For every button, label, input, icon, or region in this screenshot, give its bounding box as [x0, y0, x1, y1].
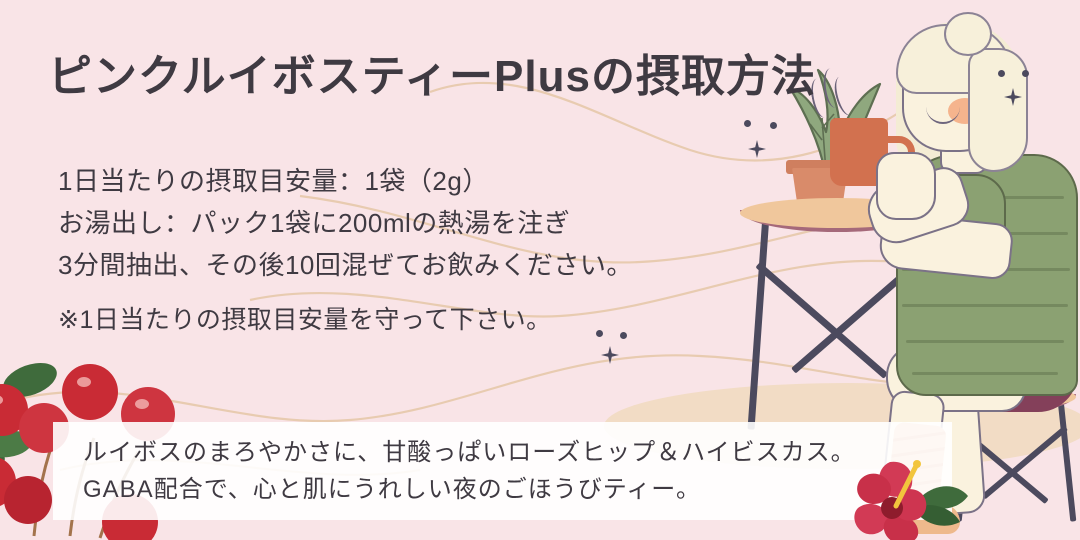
instructions-block: 1日当たりの摂取目安量：1袋（2g） お湯出し：パック1袋に200mlの熱湯を注… — [58, 160, 718, 336]
table-crossbar — [755, 262, 888, 379]
page-title: ピンクルイボスティーPlusの摂取方法 — [48, 40, 816, 104]
sparkle-dot-icon — [770, 122, 777, 129]
instruction-line: 1日当たりの摂取目安量：1袋（2g） — [58, 160, 718, 202]
sparkle-star-icon — [601, 346, 619, 364]
hibiscus-flower-decoration — [848, 452, 970, 540]
instruction-note: ※1日当たりの摂取目安量を守って下さい。 — [58, 300, 718, 336]
hair-side — [968, 48, 1028, 172]
banner-line: ルイボスのまろやかさに、甘酸っぱいローズヒップ＆ハイビスカス。 — [83, 434, 952, 471]
sparkle-dot-icon — [744, 120, 751, 127]
stool-leg — [1058, 404, 1076, 522]
poster-canvas: ピンクルイボスティーPlusの摂取方法 1日当たりの摂取目安量：1袋（2g） お… — [0, 0, 1080, 540]
hair-bun — [944, 12, 992, 56]
bottom-banner: ルイボスのまろやかさに、甘酸っぱいローズヒップ＆ハイビスカス。 GABA配合で、… — [53, 422, 952, 520]
sparkle-dot-icon — [1022, 70, 1029, 77]
table-leg — [747, 222, 768, 430]
hand — [876, 152, 936, 220]
instruction-line: お湯出し：パック1袋に200mlの熱湯を注ぎ — [58, 202, 718, 244]
sparkle-dot-icon — [998, 70, 1005, 77]
banner-line: GABA配合で、心と肌にうれしい夜のごほうびティー。 — [83, 471, 952, 508]
instruction-line: 3分間抽出、その後10回混ぜてお飲みください。 — [58, 244, 718, 286]
